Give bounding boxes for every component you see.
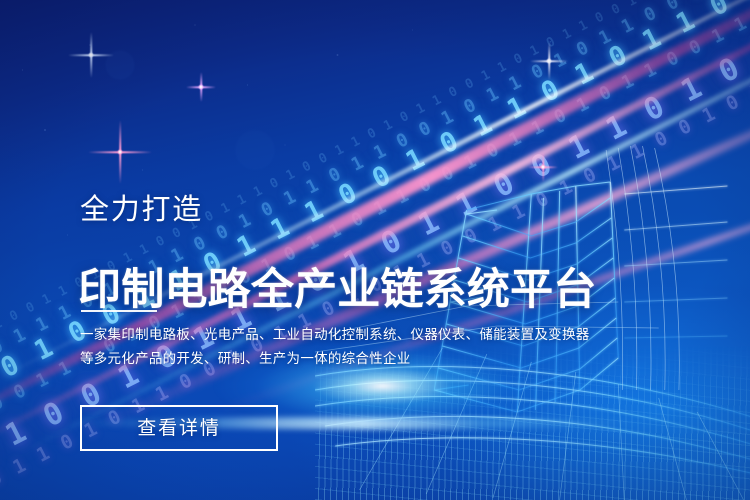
description-line-1: 一家集印制电路板、光电产品、工业自动化控制系统、仪器仪表、储能装置及变换器 bbox=[80, 327, 600, 344]
hero-banner: 1 0 0 1 1 0 1 0 1 1 0 0 1 1 0 1 0 1 1 0 … bbox=[0, 0, 750, 500]
description-line-2: 等多元化产品的开发、研制、生产为一体的综合性企业 bbox=[80, 351, 600, 368]
hero-description: 一家集印制电路板、光电产品、工业自动化控制系统、仪器仪表、储能装置及变换器 等多… bbox=[80, 327, 600, 375]
view-details-button[interactable]: 查看详情 bbox=[80, 405, 278, 451]
hero-content: 全力打造 印制电路全产业链系统平台 一家集印制电路板、光电产品、工业自动化控制系… bbox=[80, 0, 680, 500]
hero-headline: 印制电路全产业链系统平台 bbox=[78, 267, 597, 313]
divider-rule bbox=[81, 310, 157, 312]
hero-eyebrow: 全力打造 bbox=[80, 196, 203, 225]
